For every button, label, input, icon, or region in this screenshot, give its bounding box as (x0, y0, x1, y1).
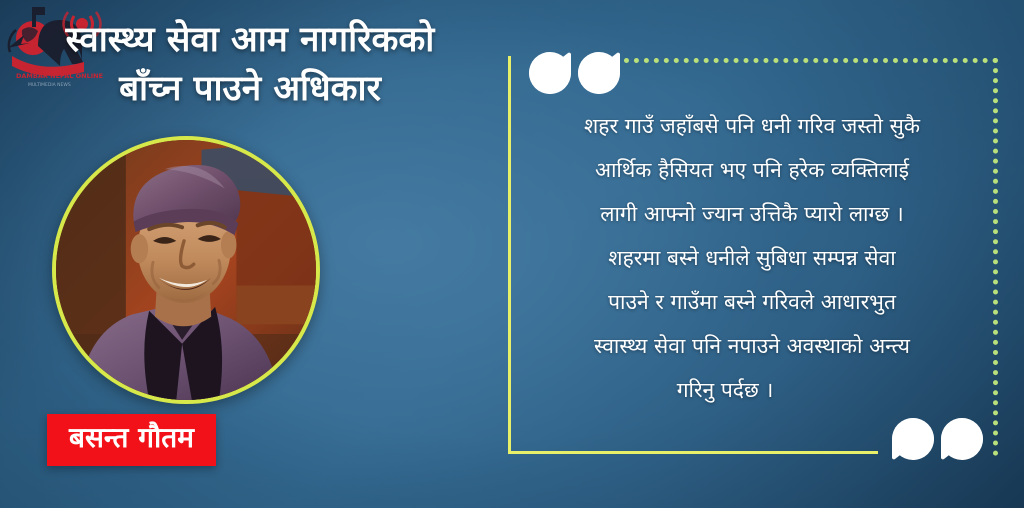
quote-line: स्वास्थ्य सेवा पनि नपाउने अवस्थाको अन्त्… (514, 324, 990, 368)
quote-line: गरिनु पर्दछ । (514, 368, 990, 412)
quote-line: आर्थिक हैसियत भए पनि हरेक व्यक्तिलाई (514, 148, 990, 192)
quote-line: शहरमा बस्ने धनीले सुबिधा सम्पन्न सेवा (514, 236, 990, 280)
quote-card-graphic: DAMBAR NEPAL ONLINE MULTIMEDIA NEWS स्वा… (0, 0, 1024, 508)
quote-text: शहर गाउँ जहाँबसे पनि धनी गरिव जस्तो सुकै… (514, 104, 990, 412)
quote-panel: शहर गाउँ जहाँबसे पनि धनी गरिव जस्तो सुकै… (494, 46, 1002, 470)
headline-line-1: स्वास्थ्य सेवा आम नागरिकको (0, 16, 500, 65)
headline-line-2: बाँच्न पाउने अधिकार (0, 65, 500, 114)
quote-open-mark-left (529, 52, 571, 94)
headline: स्वास्थ्य सेवा आम नागरिकको बाँच्न पाउने … (0, 16, 500, 114)
quote-line: लागी आफ्नो ज्यान उत्तिकै प्यारो लाग्छ । (514, 192, 990, 236)
speaker-name-badge: बसन्त गौतम (47, 414, 216, 466)
quote-close-mark-left (892, 418, 934, 460)
portrait-image (56, 140, 316, 400)
portrait-avatar (52, 136, 320, 404)
quote-line: पाउने र गाउँमा बस्ने गरिवले आधारभुत (514, 280, 990, 324)
quote-open-mark-right (578, 52, 620, 94)
quote-close-mark-right (941, 418, 983, 460)
quote-line: शहर गाउँ जहाँबसे पनि धनी गरिव जस्तो सुकै (514, 104, 990, 148)
